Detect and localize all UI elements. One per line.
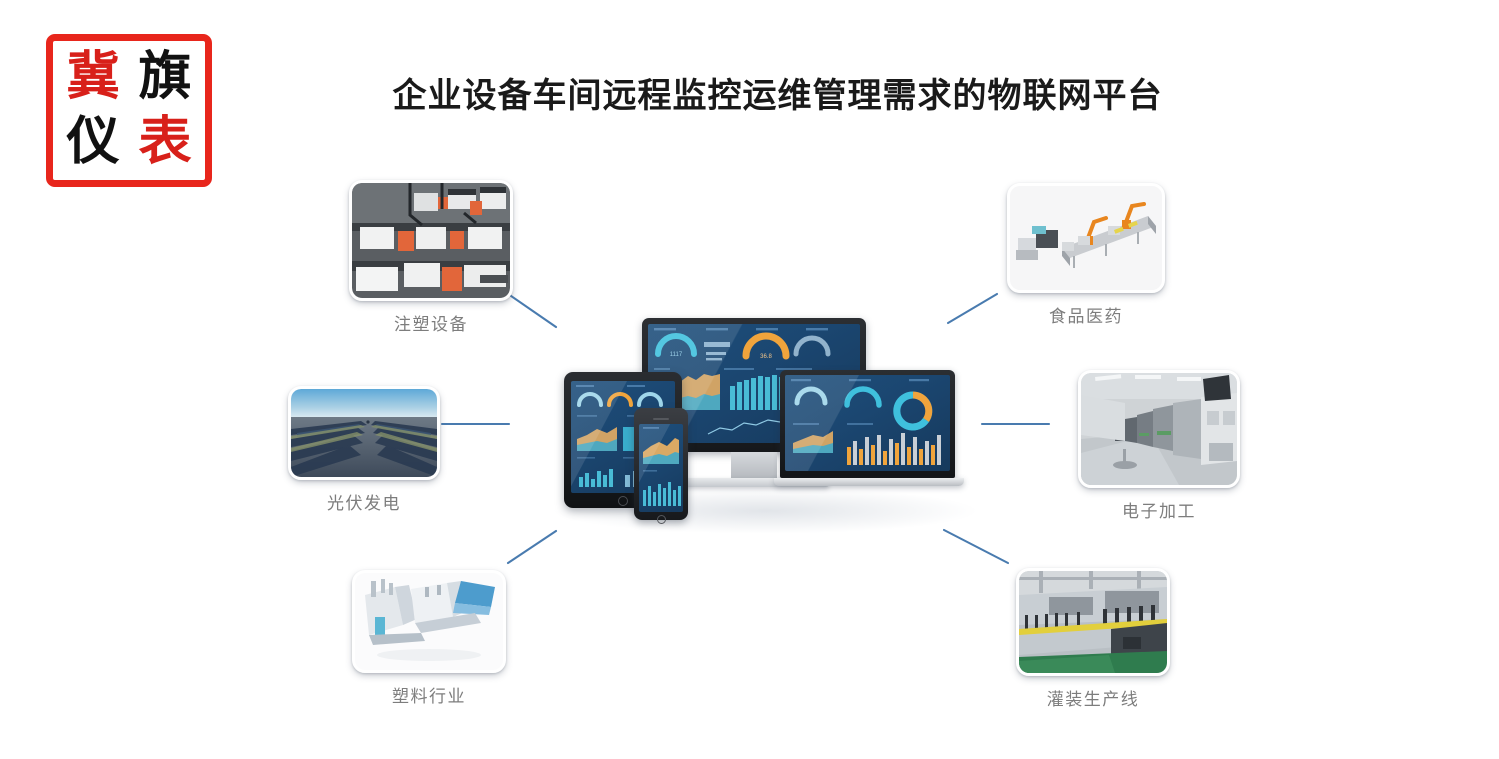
node-thumbnail-photovoltaic	[288, 386, 440, 480]
device-smartphone	[634, 408, 688, 520]
laptop-dashboard-screen	[785, 375, 950, 471]
device-laptop	[774, 370, 964, 502]
phone-dashboard-screen	[639, 424, 683, 512]
node-thumbnail-plastics	[352, 570, 506, 673]
node-label-photovoltaic: 光伏发电	[327, 489, 401, 514]
node-electronics-processing[interactable]: 电子加工	[1078, 370, 1240, 522]
laptop-bezel	[780, 370, 955, 478]
node-label-plastics: 塑料行业	[392, 682, 466, 707]
central-device-cluster: 1117 36.8	[556, 312, 968, 520]
svg-text:1117: 1117	[670, 352, 683, 358]
svg-text:36.8: 36.8	[760, 354, 772, 360]
node-thumbnail-food-pharma	[1007, 183, 1165, 293]
connector-to-filling-line	[944, 530, 1008, 563]
connector-to-plastics-industry	[508, 531, 556, 563]
node-thumbnail-injection-molding	[349, 180, 513, 301]
phone-home-button[interactable]	[657, 515, 666, 524]
node-label-electronics: 电子加工	[1122, 497, 1196, 522]
node-label-filling-line: 灌装生产线	[1047, 685, 1140, 710]
logo-glyph-4: 表	[138, 116, 191, 168]
node-photovoltaic-power[interactable]: 光伏发电	[288, 386, 440, 514]
phone-speaker	[653, 418, 669, 420]
tablet-home-button[interactable]	[618, 496, 628, 506]
page-title: 企业设备车间远程监控运维管理需求的物联网平台	[0, 68, 1499, 117]
node-food-pharmaceutical[interactable]: 食品医药	[1007, 183, 1165, 327]
node-thumbnail-filling-line	[1016, 568, 1170, 676]
node-label-injection-molding: 注塑设备	[394, 310, 468, 335]
laptop-base	[774, 478, 964, 486]
monitor-neck	[731, 452, 777, 478]
node-thumbnail-electronics	[1078, 370, 1240, 488]
phone-bezel	[634, 408, 688, 520]
node-plastics-industry[interactable]: 塑料行业	[352, 570, 506, 707]
slide-canvas: 冀 旗 仪 表 企业设备车间远程监控运维管理需求的物联网平台	[0, 0, 1499, 759]
node-label-food-pharma: 食品医药	[1049, 302, 1123, 327]
node-filling-production-line[interactable]: 灌装生产线	[1016, 568, 1170, 710]
logo-glyph-3: 仪	[66, 116, 119, 168]
node-injection-molding[interactable]: 注塑设备	[349, 180, 513, 335]
